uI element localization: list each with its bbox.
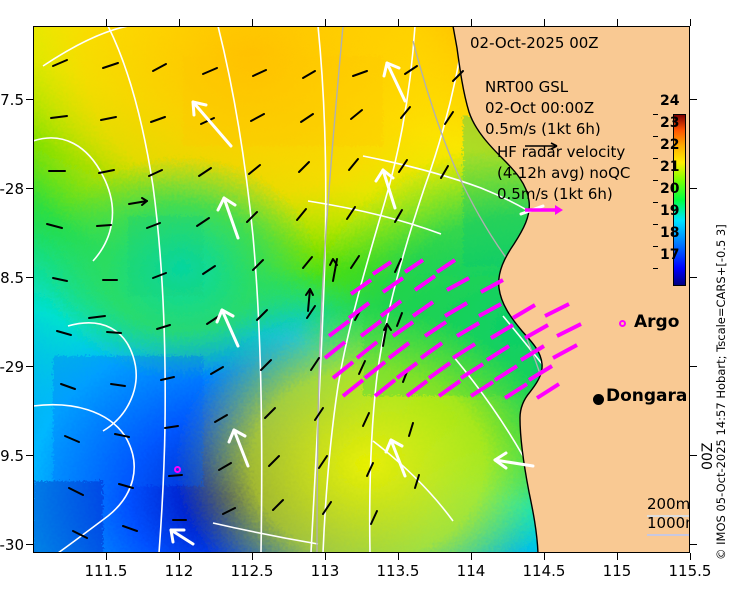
dongara-marker xyxy=(593,394,604,405)
y-tick xyxy=(26,277,33,278)
y-tick-label: -28.5 xyxy=(0,269,24,287)
x-tick-label: 113 xyxy=(290,562,360,580)
x-tick xyxy=(325,553,326,560)
colorbar-tick xyxy=(653,158,658,159)
colorbar-tick-label: 24 xyxy=(660,93,679,109)
x-tick-top xyxy=(471,19,472,26)
y-tick-label: -27.5 xyxy=(0,91,24,109)
colorbar-tick-label: 21 xyxy=(660,159,679,175)
x-tick-label: 112.5 xyxy=(217,562,287,580)
y-tick xyxy=(26,455,33,456)
hf-legend-arrow xyxy=(523,204,569,216)
colorbar-tick xyxy=(653,224,658,225)
colorbar-tick-label: 19 xyxy=(660,203,679,219)
x-tick-label: 112 xyxy=(144,562,214,580)
y-tick-label: -29 xyxy=(0,358,24,376)
colorbar-tick xyxy=(653,114,658,115)
credit-text: © IMOS 05-Oct-2025 14:57 Hobart; Tscale=… xyxy=(714,40,730,560)
argo-legend-marker xyxy=(619,320,626,327)
y-tick xyxy=(26,188,33,189)
depth-200m-label: 200m xyxy=(647,495,690,513)
depth-200m-line xyxy=(647,515,690,517)
x-tick-label: 115 xyxy=(582,562,652,580)
y-tick-right xyxy=(690,188,697,189)
x-tick-label: 114.5 xyxy=(509,562,579,580)
sat-legend-line-1: NRT00 GSL xyxy=(485,78,568,96)
x-tick xyxy=(398,553,399,560)
x-tick-top xyxy=(690,19,691,26)
colorbar-tick xyxy=(653,268,658,269)
y-tick-right xyxy=(690,544,697,545)
argo-legend-label: Argo xyxy=(634,312,679,332)
colorbar-tick-label: 17 xyxy=(660,247,679,263)
y-tick xyxy=(26,544,33,545)
hf-legend-line-3: 0.5m/s (1kt 6h) xyxy=(497,185,613,203)
x-tick-top xyxy=(617,19,618,26)
y-tick-right xyxy=(690,277,697,278)
y-tick xyxy=(26,99,33,100)
argo-float-marker xyxy=(174,466,181,473)
x-tick xyxy=(179,553,180,560)
x-tick-top xyxy=(252,19,253,26)
x-tick-label: 114 xyxy=(436,562,506,580)
y-tick-right xyxy=(690,366,697,367)
colorbar-tick xyxy=(653,246,658,247)
sat-legend-line-3: 0.5m/s (1kt 6h) xyxy=(485,120,601,138)
y-tick-label: -29.5 xyxy=(0,447,24,465)
y-tick-right xyxy=(690,455,697,456)
hf-legend-line-2: (4-12h avg) noQC xyxy=(497,164,630,182)
colorbar-tick-label: 18 xyxy=(660,225,679,241)
y-tick-right xyxy=(690,99,697,100)
colorbar-tick-label: 23 xyxy=(660,115,679,131)
x-tick-label: 111.5 xyxy=(71,562,141,580)
colorbar-tick xyxy=(653,202,658,203)
x-tick-top xyxy=(325,19,326,26)
x-tick-top xyxy=(179,19,180,26)
x-tick xyxy=(252,553,253,560)
x-tick-top xyxy=(544,19,545,26)
title-date: 02-Oct-2025 00Z xyxy=(470,34,599,52)
x-tick-label: 113.5 xyxy=(363,562,433,580)
colorbar-tick-label: 22 xyxy=(660,137,679,153)
x-tick xyxy=(617,553,618,560)
colorbar-tick xyxy=(653,180,658,181)
y-tick-label: -30 xyxy=(0,536,24,554)
y-tick-label: -28 xyxy=(0,180,24,198)
sat-legend-line-2: 02-Oct 00:00Z xyxy=(485,99,594,117)
figure-root: 02-Oct-2025 00Z NRT00 GSL 02-Oct 00:00Z … xyxy=(0,0,740,592)
y-tick xyxy=(26,366,33,367)
colorbar-tick-label: 20 xyxy=(660,181,679,197)
x-tick xyxy=(690,553,691,560)
hf-legend-line-1: HF radar velocity xyxy=(497,143,625,161)
dongara-label: Dongara xyxy=(606,386,687,406)
x-tick xyxy=(544,553,545,560)
x-tick-top xyxy=(106,19,107,26)
right-time-label: 00Z xyxy=(700,410,714,470)
x-tick xyxy=(471,553,472,560)
colorbar-tick xyxy=(653,136,658,137)
depth-1000m-line xyxy=(647,534,690,536)
x-tick xyxy=(106,553,107,560)
x-tick-top xyxy=(398,19,399,26)
x-tick-label: 115.5 xyxy=(655,562,725,580)
map-plot-area[interactable]: 02-Oct-2025 00Z NRT00 GSL 02-Oct 00:00Z … xyxy=(33,26,690,553)
